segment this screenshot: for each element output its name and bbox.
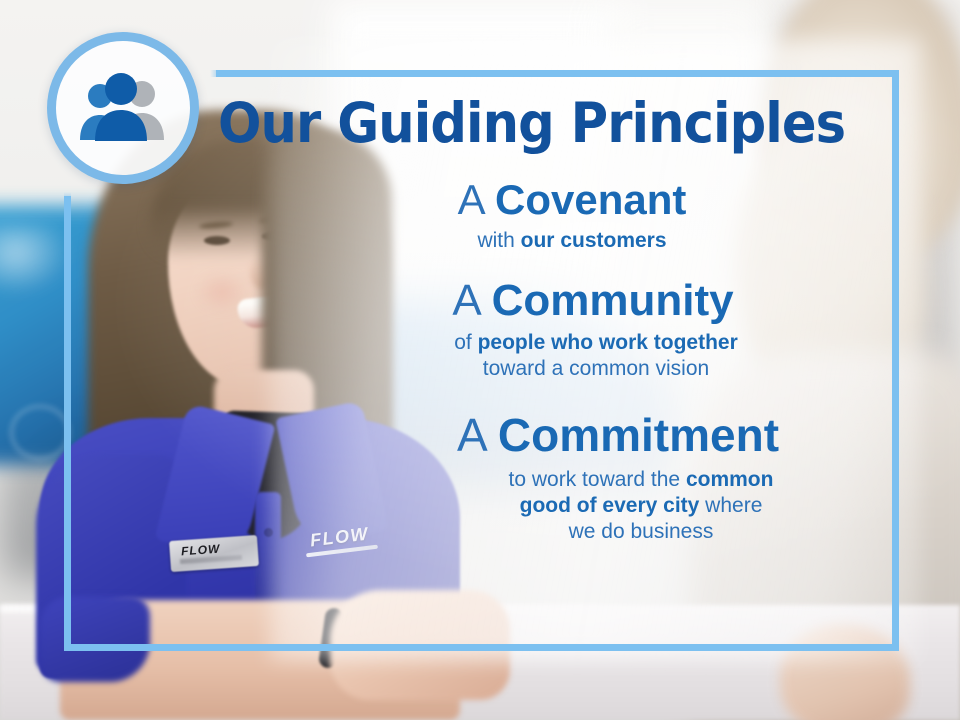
commitment-sub2-plain: where [699, 494, 762, 517]
commitment-sub2-bold: good of every city [520, 494, 700, 517]
page-title: Our Guiding Principles [218, 96, 813, 151]
people-group-icon [73, 72, 173, 144]
principle-covenant-word: Covenant [495, 176, 686, 223]
principle-community-article: A [452, 276, 479, 325]
principle-community-word: Community [492, 276, 734, 325]
principle-community-subtext: of people who work together toward a com… [292, 330, 900, 381]
commitment-sub-line-1: to work toward the common [382, 467, 900, 493]
principle-community: A Community of people who work together … [250, 278, 900, 381]
covenant-sub-plain: with [477, 229, 520, 252]
principle-covenant: A Covenant with our customers [250, 178, 900, 254]
people-badge [47, 32, 199, 184]
commitment-sub-line-2: good of every city where [382, 493, 900, 519]
employee-hands [330, 590, 510, 700]
community-sub1-bold: people who work together [478, 331, 738, 354]
community-sub-line-1: of people who work together [292, 330, 900, 356]
principle-commitment-article: A [457, 409, 485, 461]
commitment-sub1-plain: to work toward the [509, 468, 686, 491]
principle-covenant-heading: A Covenant [244, 178, 900, 222]
employee-sleeve [40, 596, 150, 682]
covenant-sub-bold: our customers [521, 229, 667, 252]
principle-community-heading: A Community [286, 278, 900, 324]
principles-list: A Covenant with our customers A Communit… [250, 178, 900, 548]
commitment-sub-line-3: we do business [382, 519, 900, 545]
principle-commitment: A Commitment to work toward the common g… [250, 411, 900, 544]
commitment-sub1-bold: common [686, 468, 774, 491]
screen-highlight [0, 225, 70, 295]
principle-covenant-subtext: with our customers [244, 228, 900, 254]
screen-logo-ring [10, 405, 70, 460]
community-sub-line-2: toward a common vision [292, 356, 900, 382]
principle-commitment-subtext: to work toward the common good of every … [382, 467, 900, 544]
promotional-graphic: FLOW FLOW [0, 0, 960, 720]
principle-commitment-heading: A Commitment [336, 411, 900, 459]
principle-commitment-word: Commitment [498, 409, 779, 461]
principle-covenant-article: A [458, 176, 484, 223]
community-sub1-plain: of [454, 331, 477, 354]
